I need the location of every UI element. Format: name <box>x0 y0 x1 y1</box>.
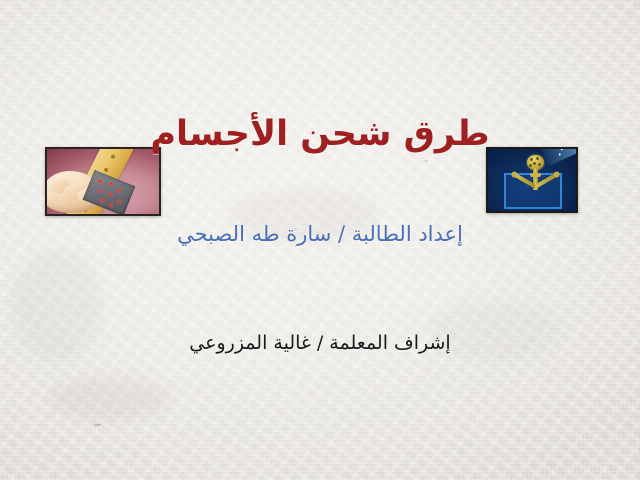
electroscope-image <box>486 147 578 213</box>
electroscope-collar-shape <box>530 173 541 177</box>
paper-smudge <box>48 378 168 420</box>
title-row: طرق شحن الأجسام <box>0 70 640 152</box>
paper-speck <box>94 424 101 427</box>
author-line: إعداد الطالبة / سارة طه الصبحي <box>0 222 640 246</box>
presentation-slide: طرق شحن الأجسام <box>0 0 640 480</box>
charge-beam-shape <box>540 147 578 166</box>
supervisor-line: إشراف المعلمة / غالية المزروعي <box>0 332 640 354</box>
